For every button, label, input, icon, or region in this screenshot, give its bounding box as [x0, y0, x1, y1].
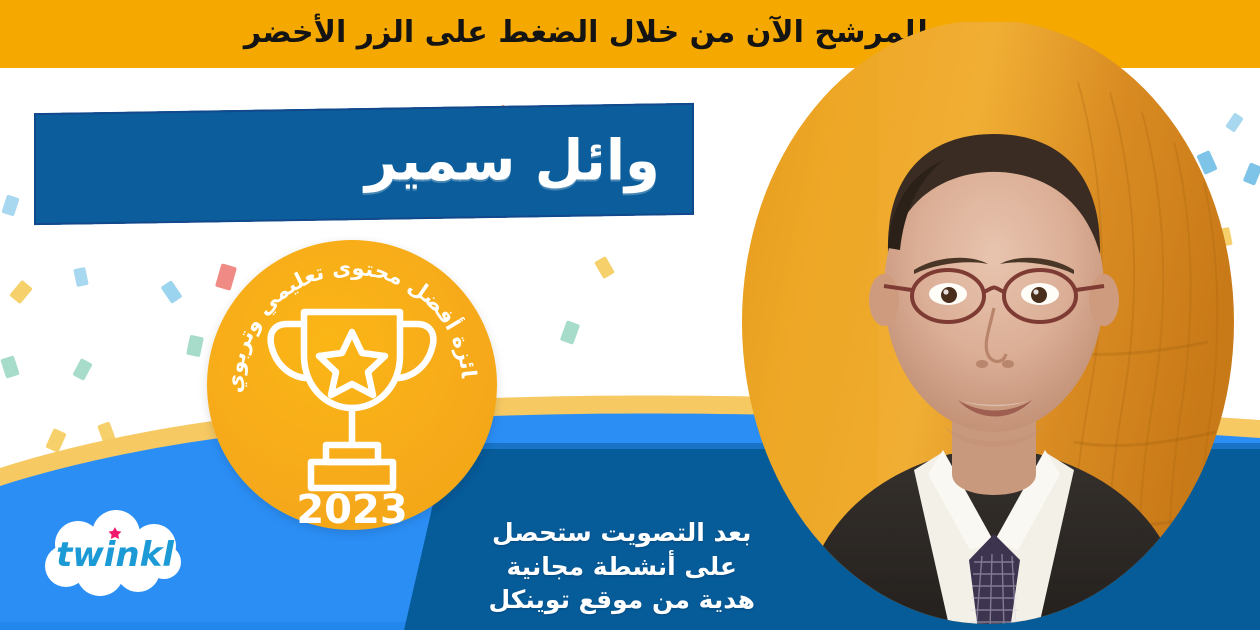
- twinkl-logo[interactable]: twinkl: [30, 510, 200, 602]
- badge-ring-text: جائزة أفضل محتوى تعليمي وتربوي: [207, 240, 481, 393]
- vote-reward-caption: بعد التصويت ستحصل على أنشطة مجانية هدية …: [488, 516, 755, 616]
- caption-line-2: على أنشطة مجانية: [488, 550, 755, 583]
- trophy-icon: [271, 312, 434, 488]
- badge-year: 2023: [296, 487, 407, 530]
- nominee-name-plate: وائل سمير: [34, 103, 694, 225]
- award-banner-graphic: وائل سمير: [0, 0, 1260, 630]
- nominee-name: وائل سمير: [365, 134, 660, 190]
- award-badge: جائزة أفضل محتوى تعليمي وتربوي 2023: [207, 240, 497, 530]
- nominee-photo: [738, 22, 1248, 630]
- caption-line-1: بعد التصويت ستحصل: [488, 516, 755, 549]
- twinkl-wordmark: twinkl: [56, 535, 175, 575]
- caption-line-3: هدية من موقع توينكل: [488, 583, 755, 616]
